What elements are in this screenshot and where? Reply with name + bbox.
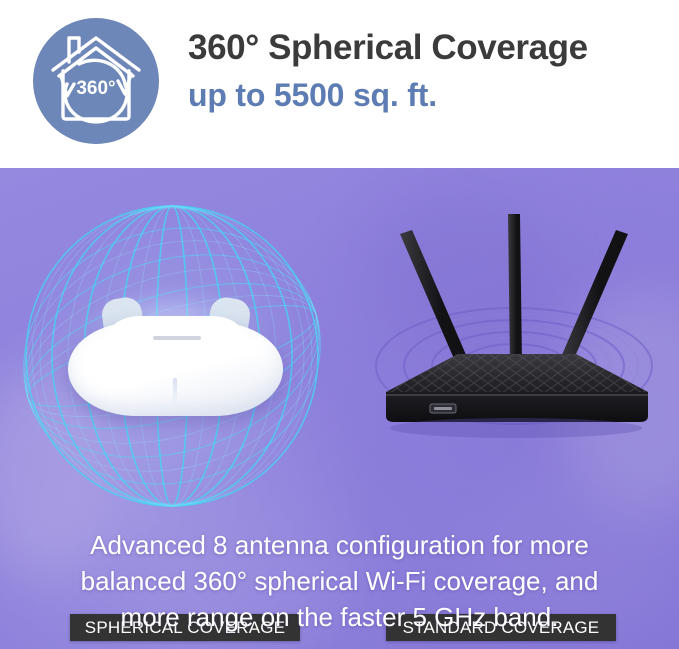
header-text-block: 360° Spherical Coverage up to 5500 sq. f… bbox=[188, 26, 658, 116]
antenna-center bbox=[508, 214, 522, 364]
antenna-left bbox=[400, 230, 470, 368]
product-feature-image: 360° 360° Spherical Coverage up to 5500 … bbox=[0, 0, 679, 649]
feature-caption: Advanced 8 antenna configuration for mor… bbox=[54, 527, 625, 635]
router-antennas bbox=[400, 214, 628, 368]
caption-line-3: more range on the faster 5 GHz band. bbox=[54, 599, 625, 635]
router-chassis bbox=[386, 354, 648, 422]
page-title: 360° Spherical Coverage bbox=[188, 26, 658, 70]
house-360-icon: 360° bbox=[33, 18, 159, 144]
comparison-panel: SPHERICAL COVERAGE STANDARD COVERAGE Adv… bbox=[0, 168, 679, 649]
icon-360-label: 360° bbox=[76, 78, 115, 99]
antenna-right bbox=[558, 230, 628, 368]
router-led-indicator bbox=[173, 378, 177, 404]
router-brand-mark bbox=[153, 336, 201, 340]
standard-coverage-illustration bbox=[348, 178, 678, 508]
caption-line-2: balanced 360° spherical Wi-Fi coverage, … bbox=[54, 563, 625, 599]
header-band: 360° 360° Spherical Coverage up to 5500 … bbox=[0, 0, 679, 168]
spherical-coverage-illustration bbox=[6, 178, 336, 508]
router-shadow bbox=[390, 418, 642, 438]
page-subtitle: up to 5500 sq. ft. bbox=[188, 74, 658, 116]
white-spherical-router bbox=[68, 298, 283, 418]
caption-line-1: Advanced 8 antenna configuration for mor… bbox=[54, 527, 625, 563]
router-top-surface bbox=[110, 316, 242, 352]
